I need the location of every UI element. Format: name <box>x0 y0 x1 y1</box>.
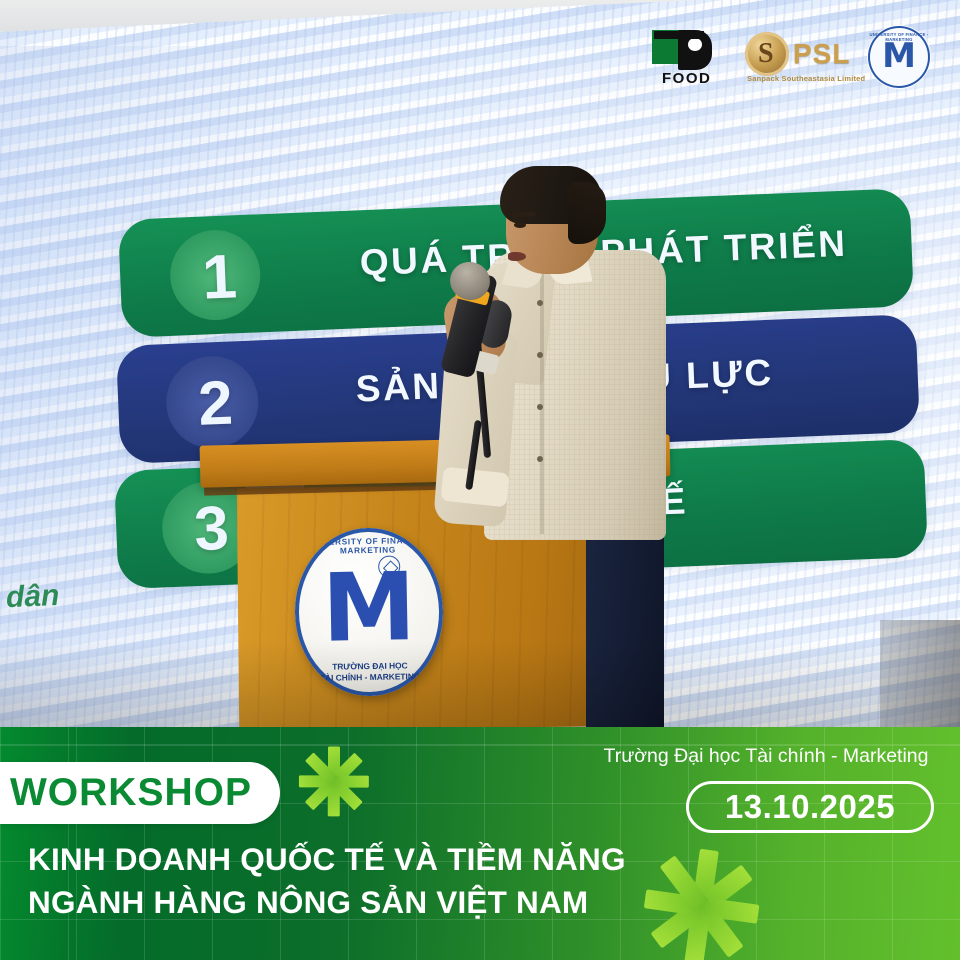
event-photo: 1 QUÁ TRÌNH PHÁT TRIỂN 2 SẢN PHẨM CHỦ LỰ… <box>0 0 960 727</box>
speaker-shirt-button <box>537 352 543 358</box>
psl-coin-letter-icon: S <box>758 38 774 70</box>
speaker-shirt-button <box>537 300 543 306</box>
slide-row-2-number: 2 <box>197 367 234 439</box>
asterisk-star-large-icon <box>640 845 764 960</box>
ufm-logo: UNIVERSITY OF FINANCE - MARKETING M <box>868 26 930 88</box>
slide-row-1-number: 1 <box>201 241 238 313</box>
asterisk-star-small-icon <box>296 743 372 819</box>
speaker-eye <box>514 222 526 228</box>
psl-tagline: Sanpack Southeastasia Limited <box>747 74 865 83</box>
banner-title-line2: NGÀNH HÀNG NÔNG SẢN VIỆT NAM <box>28 881 648 924</box>
event-date-badge: 13.10.2025 <box>686 781 934 833</box>
sponsor-logo-strip: FOOD S PSL Sanpack Southeastasia Limited… <box>640 26 940 96</box>
workshop-label-pill: WORKSHOP <box>0 762 280 824</box>
ufm-logo-m-icon: M <box>881 42 917 72</box>
speaker-mouth <box>508 252 526 261</box>
banner-title: KINH DOANH QUỐC TẾ VÀ TIỀM NĂNG NGÀNH HÀ… <box>28 838 648 924</box>
banner-title-line1: KINH DOANH QUỐC TẾ VÀ TIỀM NĂNG <box>28 838 648 881</box>
workshop-label: WORKSHOP <box>10 771 252 815</box>
psl-logo: S PSL Sanpack Southeastasia Limited <box>745 30 855 88</box>
sp-top-bar-icon <box>654 31 704 39</box>
sp-letter-p-hole-icon <box>688 38 702 51</box>
speaker-shirt-button <box>537 404 543 410</box>
speaker-cuff <box>440 467 509 508</box>
slide-row-3-number: 3 <box>193 493 230 565</box>
university-name: Trường Đại học Tài chính - Marketing <box>592 745 940 768</box>
slide-side-word: dân <box>5 579 60 615</box>
psl-wordmark: PSL <box>793 38 850 70</box>
sp-food-logo: FOOD <box>650 28 728 90</box>
speaker-shirt-button <box>537 456 543 462</box>
photo-right-dark-edge <box>880 620 960 727</box>
sp-food-wordmark: FOOD <box>662 70 711 87</box>
photo-bottom-shadow <box>0 640 960 727</box>
event-date: 13.10.2025 <box>725 788 895 826</box>
workshop-poster: 1 QUÁ TRÌNH PHÁT TRIỂN 2 SẢN PHẨM CHỦ LỰ… <box>0 0 960 960</box>
